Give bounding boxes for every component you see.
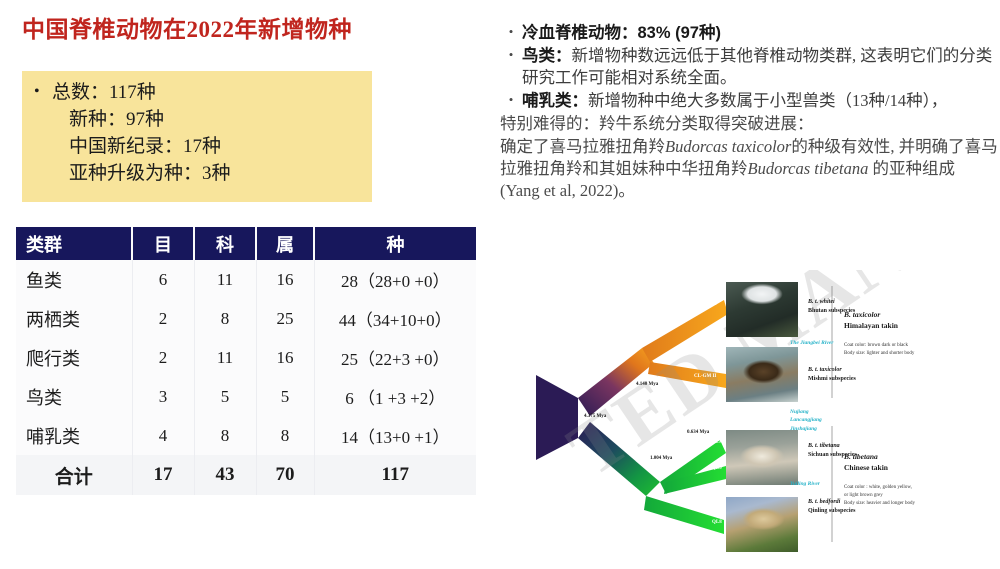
tip-label-wt9: WT9 xyxy=(706,302,717,307)
summary-line: 新种：97种 xyxy=(22,107,372,134)
table-row: 哺乳类 4 8 8 14（13+0 +1） xyxy=(16,416,476,455)
cell-total-order: 17 xyxy=(132,455,194,495)
left-column: 中国脊椎动物在2022年新增物种 •总数：117种 新种：97种 中国新纪录：1… xyxy=(0,0,492,569)
cell-genus: 5 xyxy=(256,377,314,416)
cell-genus: 25 xyxy=(256,299,314,338)
cell-total-genus: 70 xyxy=(256,455,314,495)
table-row: 鱼类 6 11 16 28（28+0 +0） xyxy=(16,260,476,299)
cell-genus: 8 xyxy=(256,416,314,455)
cell-family: 8 xyxy=(194,416,256,455)
photo-sichuan-takin xyxy=(726,430,798,485)
cell-group: 鱼类 xyxy=(16,260,132,299)
species-desc-tibetana: Coat color : white, golden yellow, or li… xyxy=(844,484,915,508)
summary-line: •总数：117种 xyxy=(22,80,372,107)
cell-species: 25（22+3 +0） xyxy=(314,338,476,377)
cell-genus: 16 xyxy=(256,260,314,299)
photo-mishmi-takin xyxy=(726,347,798,402)
species-group-label-tibetana: B. tibetana Chinese takin xyxy=(844,452,888,474)
note-label: 鸟类： xyxy=(522,46,572,65)
note-paragraph-heading: 特别难得的：羚牛系统分类取得突破进展： xyxy=(500,113,998,135)
species-name-taxicolor: Budorcas taxicolor xyxy=(665,137,791,156)
summary-line: 中国新纪录：17种 xyxy=(22,134,372,161)
note-paragraph-body: 确定了喜马拉雅扭角羚Budorcas taxicolor的种级有效性, 并明确了… xyxy=(500,136,998,202)
note-item-birds: • 鸟类：新增物种数远远低于其他脊椎动物类群, 这表明它们的分类研究工作可能相对… xyxy=(500,45,998,89)
right-column: • 冷血脊椎动物：83% (97种) • 鸟类：新增物种数远远低于其他脊椎动物类… xyxy=(492,0,1000,569)
species-desc-taxicolor: Coat color: brown dark or black Body siz… xyxy=(844,342,914,358)
cell-species: 14（13+0 +1） xyxy=(314,416,476,455)
subspecies-label-taxicolor: B. t. taxicolor Mishmi subspecies xyxy=(808,366,856,383)
cell-group: 鸟类 xyxy=(16,377,132,416)
barrier-label-jiangbei: The Jiangbei River xyxy=(790,339,833,347)
cell-order: 2 xyxy=(132,338,194,377)
tip-label-ql8: QL8 xyxy=(712,520,722,525)
cell-total-species: 117 xyxy=(314,455,476,495)
cell-total-family: 43 xyxy=(194,455,256,495)
column-header-order: 目 xyxy=(132,227,194,260)
species-statistics-table: 类群 目 科 属 种 鱼类 6 11 16 28（28+0 +0） 两栖类 2 … xyxy=(16,227,476,495)
table-row: 爬行类 2 11 16 25（22+3 +0） xyxy=(16,338,476,377)
table-total-row: 合计 17 43 70 117 xyxy=(16,455,476,495)
divergence-time-lower: 1.004 Mya xyxy=(650,456,672,461)
bullet-icon: • xyxy=(500,22,522,42)
cell-order: 2 xyxy=(132,299,194,338)
note-item-coldblooded: • 冷血脊椎动物：83% (97种) xyxy=(500,22,998,44)
cell-group: 爬行类 xyxy=(16,338,132,377)
summary-line-text: 总数：117种 xyxy=(52,82,156,103)
notes-block: • 冷血脊椎动物：83% (97种) • 鸟类：新增物种数远远低于其他脊椎动物类… xyxy=(500,22,998,202)
summary-box: •总数：117种 新种：97种 中国新纪录：17种 亚种升级为种：3种 xyxy=(22,71,372,202)
table-row: 两栖类 2 8 25 44（34+10+0） xyxy=(16,299,476,338)
tip-label-sc9: SC9 xyxy=(712,440,721,445)
column-header-genus: 属 xyxy=(256,227,314,260)
cell-family: 11 xyxy=(194,338,256,377)
cell-family: 5 xyxy=(194,377,256,416)
divergence-time-root: 4.375 Mya xyxy=(584,414,606,419)
bullet-icon: • xyxy=(34,81,52,104)
cell-species: 28（28+0 +0） xyxy=(314,260,476,299)
note-value: 新增物种中绝大多数属于小型兽类（13种/14种）， xyxy=(588,91,947,110)
divergence-time-upper: 4.140 Mya xyxy=(636,382,658,387)
cell-order: 4 xyxy=(132,416,194,455)
note-label: 冷血脊椎动物： xyxy=(522,23,638,42)
barrier-label-yuiling: Yuiling River xyxy=(790,480,820,488)
photo-qinling-takin xyxy=(726,497,798,552)
note-label: 哺乳类： xyxy=(522,91,588,110)
cell-order: 3 xyxy=(132,377,194,416)
cell-genus: 16 xyxy=(256,338,314,377)
cell-total-label: 合计 xyxy=(16,455,132,495)
note-item-mammals: • 哺乳类：新增物种中绝大多数属于小型兽类（13种/14种）， xyxy=(500,90,998,112)
cell-species: 6 （1 +3 +2） xyxy=(314,377,476,416)
table-header-row: 类群 目 科 属 种 xyxy=(16,227,476,260)
species-group-label-taxicolor: B. taxicolor Himalayan takin xyxy=(844,310,898,332)
tip-label-ql9: QL9 xyxy=(712,466,722,471)
column-header-group: 类群 xyxy=(16,227,132,260)
cell-group: 两栖类 xyxy=(16,299,132,338)
barrier-label-rivers: Nujiang Lancangjiang Jinshajiang xyxy=(790,408,822,433)
photo-bhutan-takin xyxy=(726,282,798,337)
bullet-icon: • xyxy=(500,45,522,65)
note-text: 哺乳类：新增物种中绝大多数属于小型兽类（13种/14种）， xyxy=(522,90,998,112)
divergence-time-inner: 0.634 Mya xyxy=(687,430,709,435)
cell-family: 11 xyxy=(194,260,256,299)
cell-species: 44（34+10+0） xyxy=(314,299,476,338)
table-row: 鸟类 3 5 5 6 （1 +3 +2） xyxy=(16,377,476,416)
cell-group: 哺乳类 xyxy=(16,416,132,455)
species-name-tibetana: Budorcas tibetana xyxy=(748,159,869,178)
note-text: 鸟类：新增物种数远远低于其他脊椎动物类群, 这表明它们的分类研究工作可能相对系统… xyxy=(522,45,998,89)
column-header-species: 种 xyxy=(314,227,476,260)
cell-family: 8 xyxy=(194,299,256,338)
bullet-icon: • xyxy=(500,90,522,110)
summary-line: 亚种升级为种：3种 xyxy=(22,161,372,188)
note-text: 冷血脊椎动物：83% (97种) xyxy=(522,22,998,44)
phylogenetic-tree-figure: TED MANUSCR B. t. whitei Bhutan subspeci… xyxy=(532,270,992,565)
cell-order: 6 xyxy=(132,260,194,299)
page-title: 中国脊椎动物在2022年新增物种 xyxy=(22,10,352,44)
column-header-family: 科 xyxy=(194,227,256,260)
tip-label-clgm: CL-GM II xyxy=(694,374,716,379)
note-value: 83% (97种) xyxy=(638,24,721,42)
note-value: 新增物种数远远低于其他脊椎动物类群, 这表明它们的分类研究工作可能相对系统全面。 xyxy=(522,46,992,87)
